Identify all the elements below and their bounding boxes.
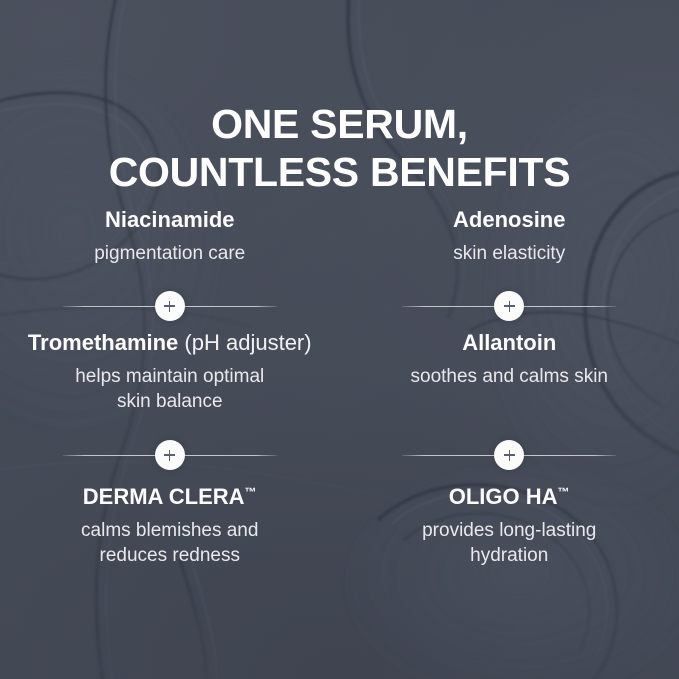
description-line-1: calms blemishes and bbox=[0, 518, 340, 543]
ingredient-description: skin elasticity bbox=[340, 241, 679, 266]
benefit-tromethamine: Tromethamine (pH adjuster) helps maintai… bbox=[0, 328, 340, 414]
section-divider bbox=[0, 284, 340, 328]
ingredient-name: Allantoin bbox=[340, 328, 679, 358]
plus-icon-vertical-bar bbox=[169, 301, 170, 312]
ingredient-description: calms blemishes and reduces redness bbox=[0, 518, 340, 568]
ingredient-name-text: Allantoin bbox=[462, 330, 556, 355]
ingredient-description: pigmentation care bbox=[0, 241, 340, 266]
page-title: ONE SERUM, COUNTLESS BENEFITS bbox=[0, 100, 679, 196]
divider-cell-right bbox=[340, 433, 679, 477]
title-line-2: COUNTLESS BENEFITS bbox=[0, 148, 679, 196]
section-divider bbox=[340, 433, 679, 477]
divider-cell-right bbox=[340, 284, 679, 328]
ingredient-name: Adenosine bbox=[340, 205, 679, 235]
ingredient-name-text: DERMA CLERA bbox=[83, 484, 245, 509]
plus-icon[interactable] bbox=[494, 440, 524, 470]
divider-cell-left bbox=[0, 433, 340, 477]
benefit-allantoin: Allantoin soothes and calms skin bbox=[340, 328, 679, 414]
section-divider bbox=[340, 284, 679, 328]
plus-icon[interactable] bbox=[494, 291, 524, 321]
benefit-row: Niacinamide pigmentation care Adenosine … bbox=[0, 205, 679, 266]
ingredient-description: helps maintain optimal skin balance bbox=[6, 364, 334, 414]
benefit-niacinamide: Niacinamide pigmentation care bbox=[0, 205, 340, 266]
description-line-1: soothes and calms skin bbox=[411, 366, 609, 387]
benefit-row: DERMA CLERA™ calms blemishes and reduces… bbox=[0, 477, 679, 568]
description-line-1: skin elasticity bbox=[453, 243, 565, 264]
benefit-row: Tromethamine (pH adjuster) helps maintai… bbox=[0, 328, 679, 414]
ingredient-name-text: Tromethamine bbox=[28, 330, 178, 355]
trademark-symbol: ™ bbox=[558, 485, 570, 499]
ingredient-name-text: Niacinamide bbox=[105, 207, 235, 232]
ingredient-name: Tromethamine (pH adjuster) bbox=[6, 328, 334, 358]
benefit-derma-clera: DERMA CLERA™ calms blemishes and reduces… bbox=[0, 477, 340, 568]
description-line-1: helps maintain optimal bbox=[6, 364, 334, 389]
trademark-symbol: ™ bbox=[245, 485, 257, 499]
ingredient-qualifier: (pH adjuster) bbox=[184, 330, 311, 355]
description-line-1: provides long-lasting bbox=[340, 518, 679, 543]
ingredient-name-text: Adenosine bbox=[453, 207, 565, 232]
benefits-grid: Niacinamide pigmentation care Adenosine … bbox=[0, 205, 679, 568]
row-spacer bbox=[0, 266, 679, 284]
divider-row bbox=[0, 284, 679, 328]
plus-icon-vertical-bar bbox=[169, 450, 170, 461]
benefit-adenosine: Adenosine skin elasticity bbox=[340, 205, 679, 266]
ingredient-description: provides long-lasting hydration bbox=[340, 518, 679, 568]
divider-cell-left bbox=[0, 284, 340, 328]
plus-icon[interactable] bbox=[155, 291, 185, 321]
ingredient-name: Niacinamide bbox=[0, 205, 340, 235]
divider-row bbox=[0, 433, 679, 477]
ingredient-name-text: OLIGO HA bbox=[449, 484, 558, 509]
ingredient-name: OLIGO HA™ bbox=[340, 477, 679, 512]
plus-icon-vertical-bar bbox=[509, 450, 510, 461]
poster-canvas: ONE SERUM, COUNTLESS BENEFITS Niacinamid… bbox=[0, 0, 679, 679]
row-spacer bbox=[0, 414, 679, 433]
plus-icon[interactable] bbox=[155, 440, 185, 470]
ingredient-name: DERMA CLERA™ bbox=[0, 477, 340, 512]
benefit-oligo-ha: OLIGO HA™ provides long-lasting hydratio… bbox=[340, 477, 679, 568]
description-line-2: skin balance bbox=[6, 389, 334, 414]
ingredient-description: soothes and calms skin bbox=[340, 364, 679, 389]
plus-icon-vertical-bar bbox=[509, 301, 510, 312]
description-line-1: pigmentation care bbox=[94, 243, 245, 264]
title-line-1: ONE SERUM, bbox=[211, 101, 468, 147]
description-line-2: reduces redness bbox=[0, 543, 340, 568]
section-divider bbox=[0, 433, 340, 477]
description-line-2: hydration bbox=[340, 543, 679, 568]
poster-content: ONE SERUM, COUNTLESS BENEFITS Niacinamid… bbox=[0, 0, 679, 679]
